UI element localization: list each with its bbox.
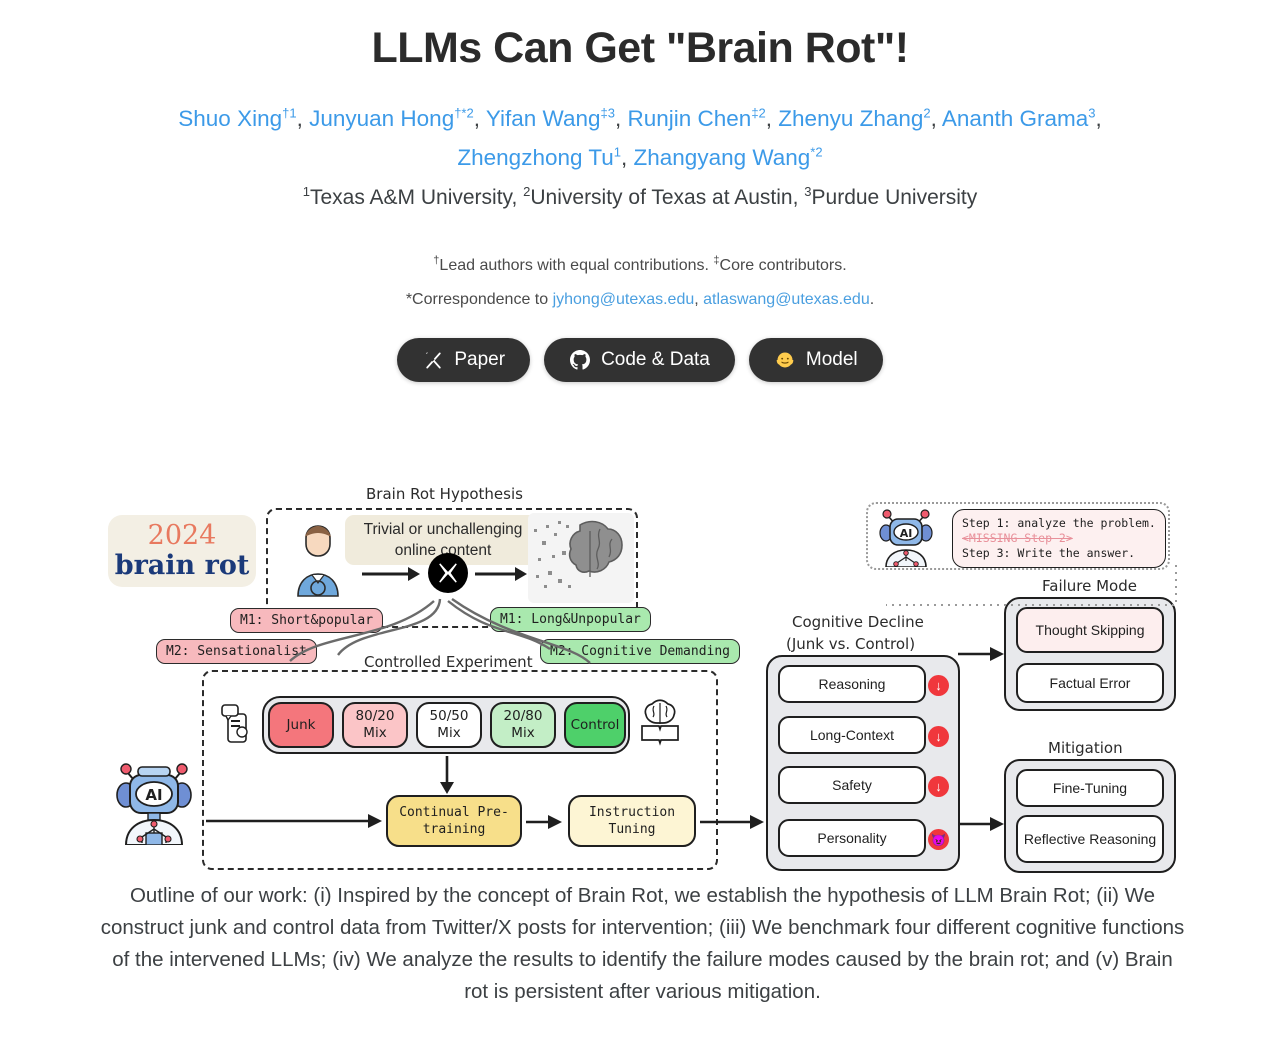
cognitive-item-safety[interactable]: Safety bbox=[778, 766, 926, 804]
arrow-mix-to-pretraining bbox=[434, 754, 460, 796]
mix-chip-20-80[interactable]: 20/80 Mix bbox=[490, 702, 556, 748]
affil-name-1: Texas A&M University bbox=[310, 186, 512, 209]
brain-rot-word-badge: 2024 brain rot bbox=[108, 515, 256, 587]
arrow-robot-to-pretraining bbox=[206, 810, 386, 832]
down-arrow-icon-long-context: ↓ bbox=[928, 726, 949, 747]
correspondence-prefix: *Correspondence to bbox=[406, 291, 553, 308]
paper-button-label: Paper bbox=[454, 349, 505, 371]
author-shuo-xing[interactable]: Shuo Xing†1 bbox=[178, 106, 296, 131]
affil-name-2: University of Texas at Austin bbox=[530, 186, 792, 209]
contribution-note: †Lead authors with equal contributions. … bbox=[0, 255, 1280, 277]
devil-face-icon: 😈 bbox=[928, 829, 949, 850]
affil-mark-1: 1 bbox=[303, 184, 310, 199]
arrow-person-to-x bbox=[358, 561, 426, 587]
overview-figure: 2024 brain rot Brain Rot Hypothesis Triv… bbox=[0, 465, 1280, 885]
hypothesis-label: Brain Rot Hypothesis bbox=[366, 485, 523, 503]
author-line-2: Zhengzhong Tu1, Zhangyang Wang*2 bbox=[457, 145, 822, 170]
correspondence-note: *Correspondence to jyhong@utexas.edu, at… bbox=[0, 291, 1280, 309]
github-icon bbox=[569, 349, 591, 371]
page-title: LLMs Can Get "Brain Rot"! bbox=[0, 0, 1280, 73]
ai-robot-icon: AI bbox=[108, 753, 200, 845]
instruction-tuning-box[interactable]: Instruction Tuning bbox=[568, 795, 696, 847]
arrow-to-mitigation bbox=[958, 813, 1010, 835]
arrow-x-to-brain bbox=[473, 561, 533, 587]
brain-book-icon bbox=[638, 698, 682, 748]
cognitive-item-reasoning[interactable]: Reasoning bbox=[778, 665, 926, 703]
badge-year: 2024 bbox=[148, 522, 217, 549]
email-link-jyhong[interactable]: jyhong@utexas.edu bbox=[553, 291, 695, 308]
badge-word: brain rot bbox=[115, 551, 250, 581]
bubble-line-2-missing: <MISSING Step 2> bbox=[962, 531, 1156, 546]
author-zhengzhong-tu[interactable]: Zhengzhong Tu1 bbox=[457, 145, 621, 170]
email-link-atlaswang[interactable]: atlaswang@utexas.edu bbox=[703, 291, 870, 308]
author-zhenyu-zhang[interactable]: Zhenyu Zhang2 bbox=[778, 106, 930, 131]
down-arrow-icon-reasoning: ↓ bbox=[928, 675, 949, 696]
mitigation-title: Mitigation bbox=[1048, 739, 1123, 757]
paper-button[interactable]: Paper bbox=[397, 338, 530, 382]
arrow-pretraining-to-tuning bbox=[526, 811, 566, 833]
mix-chip-50-50[interactable]: 50/50 Mix bbox=[416, 702, 482, 748]
author-zhangyang-wang[interactable]: Zhangyang Wang*2 bbox=[634, 145, 823, 170]
arxiv-icon bbox=[422, 349, 444, 371]
affiliation-list: 1Texas A&M University, 2University of Te… bbox=[0, 183, 1280, 213]
mitigation-item-reflective-reasoning[interactable]: Reflective Reasoning bbox=[1016, 815, 1164, 863]
figure-caption: Outline of our work: (i) Inspired by the… bbox=[100, 880, 1185, 1008]
bubble-line-3: Step 3: Write the answer. bbox=[962, 546, 1156, 561]
social-phone-icon bbox=[218, 702, 254, 746]
svg-text:AI: AI bbox=[145, 786, 162, 804]
dotted-link-bubble-to-failure bbox=[880, 561, 1180, 621]
model-button-label: Model bbox=[806, 349, 858, 371]
author-ananth-grama[interactable]: Ananth Grama3 bbox=[942, 106, 1096, 131]
arrow-to-failure-mode bbox=[958, 643, 1010, 665]
author-yifan-wang[interactable]: Yifan Wang‡3 bbox=[486, 106, 615, 131]
lead-author-note: Lead authors with equal contributions. bbox=[439, 257, 709, 274]
failure-speech-bubble: Step 1: analyze the problem. <MISSING St… bbox=[952, 509, 1166, 568]
svg-text:AI: AI bbox=[900, 527, 913, 540]
mitigation-item-fine-tuning[interactable]: Fine-Tuning bbox=[1016, 769, 1164, 807]
affil-mark-3: 3 bbox=[804, 184, 811, 199]
cognitive-item-personality[interactable]: Personality bbox=[778, 819, 926, 857]
author-junyuan-hong[interactable]: Junyuan Hong†*2 bbox=[309, 106, 474, 131]
author-runjin-chen[interactable]: Runjin Chen‡2 bbox=[627, 106, 765, 131]
continual-pretraining-box[interactable]: Continual Pre-training bbox=[386, 795, 522, 847]
correspondence-suffix: . bbox=[870, 291, 874, 308]
arrow-to-cognitive-decline bbox=[700, 811, 770, 833]
huggingface-icon bbox=[774, 349, 796, 371]
core-contributor-note: Core contributors. bbox=[720, 257, 847, 274]
bubble-line-1: Step 1: analyze the problem. bbox=[962, 516, 1156, 531]
mix-chip-80-20[interactable]: 80/20 Mix bbox=[342, 702, 408, 748]
code-data-button[interactable]: Code & Data bbox=[544, 338, 735, 382]
affil-name-3: Purdue University bbox=[812, 186, 978, 209]
page-root: LLMs Can Get "Brain Rot"! Shuo Xing†1, J… bbox=[0, 0, 1280, 1038]
link-button-row: Paper Code & Data Model bbox=[0, 338, 1280, 382]
failure-item-factual-error[interactable]: Factual Error bbox=[1016, 663, 1164, 703]
controlled-experiment-label: Controlled Experiment bbox=[364, 653, 533, 671]
mix-chip-junk[interactable]: Junk bbox=[268, 702, 334, 748]
down-arrow-icon-safety: ↓ bbox=[928, 776, 949, 797]
code-data-button-label: Code & Data bbox=[601, 349, 710, 371]
mix-chip-control[interactable]: Control bbox=[564, 702, 626, 748]
ai-robot-small-icon: AI bbox=[876, 505, 936, 567]
cognitive-item-long-context[interactable]: Long-Context bbox=[778, 716, 926, 754]
author-list: Shuo Xing†1, Junyuan Hong†*2, Yifan Wang… bbox=[0, 99, 1280, 177]
author-line-1: Shuo Xing†1, Junyuan Hong†*2, Yifan Wang… bbox=[178, 106, 1101, 131]
cognitive-decline-title-2: (Junk vs. Control) bbox=[786, 635, 915, 653]
model-button[interactable]: Model bbox=[749, 338, 883, 382]
